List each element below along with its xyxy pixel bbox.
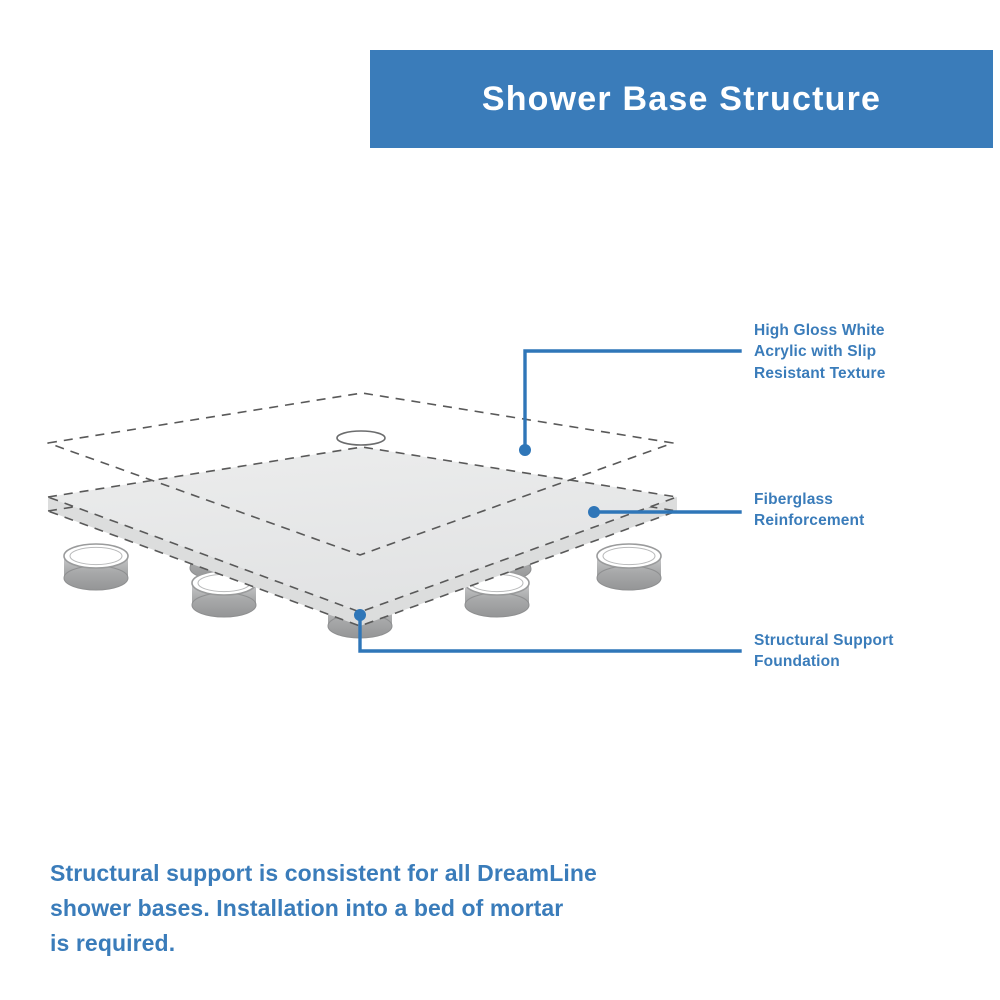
drain-icon <box>337 431 385 445</box>
diagram-page: Shower Base Structure <box>0 0 1000 1000</box>
leader-line-acrylic <box>519 351 740 456</box>
callout-label-fiberglass: Fiberglass Reinforcement <box>754 489 984 532</box>
footer-caption: Structural support is consistent for all… <box>50 856 690 961</box>
callout-label-support: Structural Support Foundation <box>754 630 984 673</box>
callout-label-acrylic: High Gloss White Acrylic with Slip Resis… <box>754 320 984 384</box>
support-ring <box>597 544 661 590</box>
leader-line-support <box>354 609 740 651</box>
fiberglass-slab <box>48 447 677 626</box>
support-ring <box>64 544 128 590</box>
